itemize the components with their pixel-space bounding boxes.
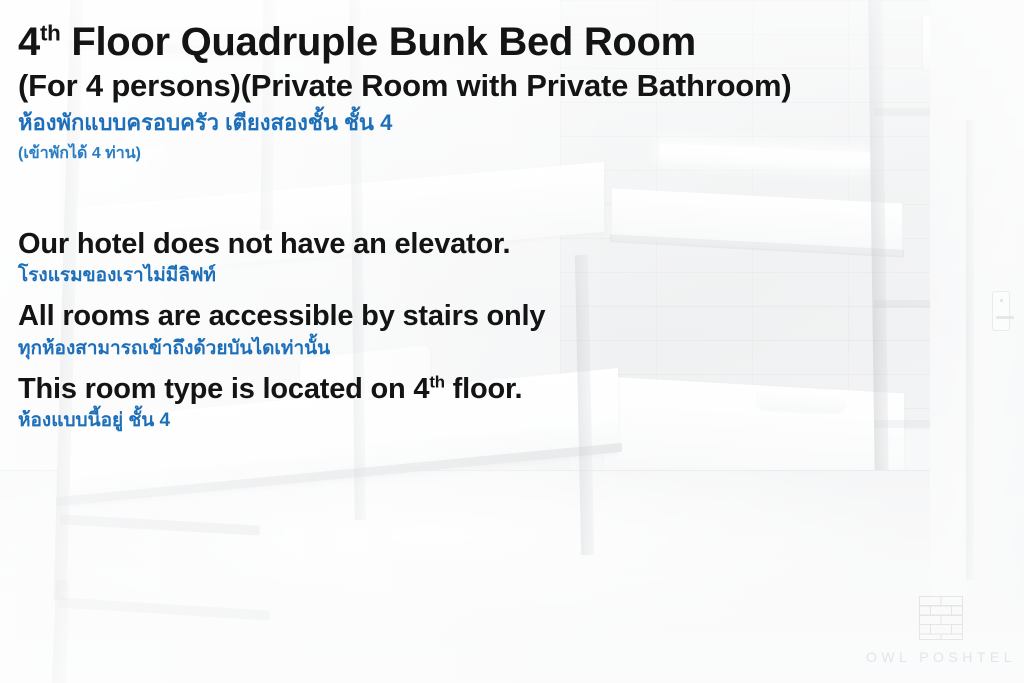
brick-wall-icon	[919, 596, 963, 640]
notice-3-en-suffix: floor.	[445, 373, 523, 405]
title-thai: ห้องพักแบบครอบครัว เตียงสองชั้น ชั้น 4	[18, 110, 1008, 136]
notice-3-en-prefix: This room type is located on 4	[18, 373, 429, 405]
notice-3-th: ห้องแบบนี้อยู่ ชั้น 4	[18, 410, 1008, 433]
notices-block: Our hotel does not have an elevator. โรง…	[18, 228, 1008, 433]
title-rest: Floor Quadruple Bunk Bed Room	[61, 20, 696, 64]
text-overlay: 4th Floor Quadruple Bunk Bed Room (For 4…	[0, 0, 1024, 683]
title-subline: (For 4 persons)(Private Room with Privat…	[18, 69, 1008, 102]
notice-2-en: All rooms are accessible by stairs only	[18, 300, 1008, 332]
notice-1-th: โรงแรมของเราไม่มีลิฟท์	[18, 265, 1008, 288]
brand-name: OWL POSHTEL	[866, 649, 1016, 665]
page-title: 4th Floor Quadruple Bunk Bed Room	[18, 22, 1008, 62]
title-block: 4th Floor Quadruple Bunk Bed Room (For 4…	[18, 22, 1008, 163]
watermark-logo: OWL POSHTEL	[873, 596, 1009, 674]
title-floor-number: 4	[18, 20, 40, 64]
notice-3-en: This room type is located on 4th floor.	[18, 373, 1008, 405]
notice-3-ordinal-suffix: th	[429, 372, 444, 391]
notice-1-en: Our hotel does not have an elevator.	[18, 228, 1008, 260]
room-info-card: 4th Floor Quadruple Bunk Bed Room (For 4…	[0, 0, 1024, 683]
title-thai-occupancy: (เข้าพักได้ 4 ท่าน)	[18, 144, 1008, 163]
title-ordinal-suffix: th	[40, 21, 61, 46]
notice-2-th: ทุกห้องสามารถเข้าถึงด้วยบันไดเท่านั้น	[18, 338, 1008, 361]
